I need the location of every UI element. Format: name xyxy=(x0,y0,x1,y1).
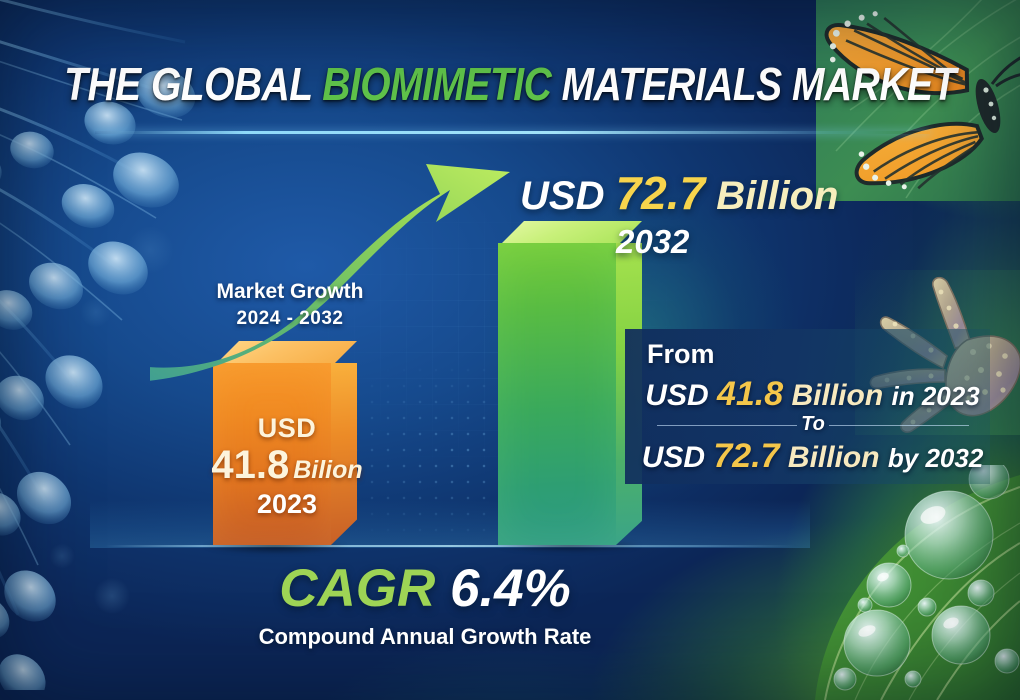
cagr-subtitle: Compound Annual Growth Rate xyxy=(120,624,730,650)
bar-2023-currency: USD xyxy=(207,415,367,442)
peak-value-unit: Billion xyxy=(716,174,838,218)
summary-from-year: in 2023 xyxy=(892,381,980,411)
summary-to-label: To xyxy=(639,413,987,436)
chart-ground-plane xyxy=(90,500,810,548)
summary-to-unit: Billion xyxy=(788,441,880,474)
bar-2023-unit: Bilion xyxy=(293,456,362,484)
growth-arrow-icon xyxy=(150,160,550,390)
water-droplets-icon xyxy=(785,465,1020,700)
peak-value-currency: USD xyxy=(520,174,604,218)
cagr-value: 6.4% xyxy=(450,559,571,618)
growth-callout: Market Growth 2024 - 2032 xyxy=(192,280,388,330)
summary-from-value: USD 41.8 Billion in 2023 xyxy=(635,377,990,411)
peak-value-callout: USD 72.7 Billion 2032 xyxy=(520,170,838,258)
summary-panel: From USD 41.8 Billion in 2023 To USD 72.… xyxy=(625,329,990,484)
peak-value-number: 72.7 xyxy=(616,167,706,219)
page-title: THE GLOBAL BIOMIMETIC MATERIALS MARKET xyxy=(0,60,1020,112)
summary-to-number: 72.7 xyxy=(713,437,779,475)
summary-from-unit: Billion xyxy=(792,379,884,412)
title-part-2: MATERIALS MARKET xyxy=(551,60,956,111)
title-part-1: THE GLOBAL xyxy=(64,60,322,111)
summary-from-number: 41.8 xyxy=(717,375,783,413)
peak-value-year: 2032 xyxy=(616,225,838,258)
infographic-canvas: THE GLOBAL BIOMIMETIC MATERIALS MARKET M… xyxy=(0,0,1020,700)
summary-from-label: From xyxy=(647,339,715,370)
bar-2023-amount: 41.8Bilion xyxy=(207,445,367,485)
bar-2023-year: 2023 xyxy=(207,491,367,518)
bar-2023-label: USD 41.8Bilion 2023 xyxy=(207,415,367,518)
peak-value-line: USD 72.7 Billion xyxy=(520,170,838,216)
cagr-label: CAGR xyxy=(279,559,435,618)
summary-to-divider: To xyxy=(639,417,987,433)
bar-2023-number: 41.8 xyxy=(211,443,289,487)
title-divider xyxy=(95,131,930,134)
cagr-block: CAGR 6.4% Compound Annual Growth Rate xyxy=(120,562,730,650)
growth-callout-label: Market Growth xyxy=(192,280,388,304)
title-highlight: BIOMIMETIC xyxy=(322,60,551,111)
cagr-headline: CAGR 6.4% xyxy=(120,562,730,615)
growth-callout-period: 2024 - 2032 xyxy=(192,308,388,330)
summary-to-currency: USD xyxy=(642,441,705,474)
summary-to-value: USD 72.7 Billion by 2032 xyxy=(635,439,990,473)
summary-to-year: by 2032 xyxy=(888,443,983,473)
summary-from-currency: USD xyxy=(645,379,708,412)
